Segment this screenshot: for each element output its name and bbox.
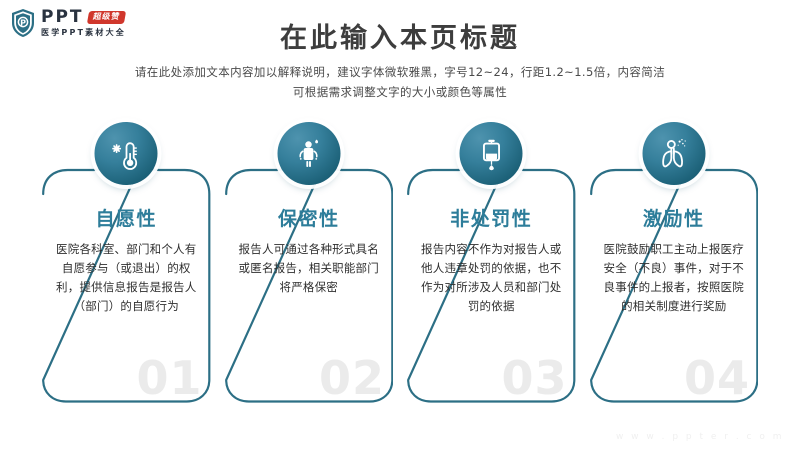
card-body: 报告内容不作为对报告人或他人违章处罚的依据，也不作为对所涉及人员和部门处罚的依据 bbox=[421, 240, 562, 316]
cards-row: 自愿性 医院各科室、部门和个人有自愿参与（或退出）的权利，提供信息报告是报告人（… bbox=[42, 158, 758, 403]
subtitle-line-1: 请在此处添加文本内容加以解释说明，建议字体微软雅黑，字号12~24，行距1.2~… bbox=[0, 62, 800, 82]
card-03[interactable]: 非处罚性 报告内容不作为对报告人或他人违章处罚的依据，也不作为对所涉及人员和部门… bbox=[407, 158, 576, 403]
card-body: 医院各科室、部门和个人有自愿参与（或退出）的权利，提供信息报告是报告人（部门）的… bbox=[56, 240, 197, 316]
subtitle-line-2: 可根据需求调整文字的大小或颜色等属性 bbox=[0, 82, 800, 102]
card-title: 自愿性 bbox=[42, 204, 211, 231]
lungs-respiratory-icon bbox=[642, 122, 705, 185]
card-04[interactable]: 激励性 医院鼓励职工主动上报医疗安全（不良）事件，对于不良事件的上报者，按照医院… bbox=[590, 158, 759, 403]
card-title: 保密性 bbox=[225, 204, 394, 231]
page-title: 在此输入本页标题 bbox=[0, 16, 800, 55]
slide-canvas: P PPT 超级赞 医学PPT素材大全 在此输入本页标题 请在此处添加文本内容加… bbox=[0, 0, 800, 450]
card-title: 激励性 bbox=[590, 204, 759, 231]
page-subtitle: 请在此处添加文本内容加以解释说明，建议字体微软雅黑，字号12~24，行距1.2~… bbox=[0, 62, 800, 102]
iv-drip-bag-icon bbox=[460, 122, 523, 185]
card-02[interactable]: 保密性 报告人可通过各种形式具名或匿名报告，相关职能部门将严格保密 02 bbox=[225, 158, 394, 403]
card-number-watermark: 02 bbox=[319, 355, 385, 401]
thermometer-snowflake-icon bbox=[95, 122, 158, 185]
card-number-watermark: 01 bbox=[136, 355, 202, 401]
card-number-watermark: 04 bbox=[684, 355, 750, 401]
site-watermark: w w w . p p t e r . c o m bbox=[616, 432, 784, 442]
card-01[interactable]: 自愿性 医院各科室、部门和个人有自愿参与（或退出）的权利，提供信息报告是报告人（… bbox=[42, 158, 211, 403]
card-body: 报告人可通过各种形式具名或匿名报告，相关职能部门将严格保密 bbox=[239, 240, 380, 297]
card-title: 非处罚性 bbox=[407, 204, 576, 231]
card-body: 医院鼓励职工主动上报医疗安全（不良）事件，对于不良事件的上报者，按照医院的相关制… bbox=[604, 240, 745, 316]
patient-person-icon bbox=[277, 122, 340, 185]
card-number-watermark: 03 bbox=[501, 355, 567, 401]
